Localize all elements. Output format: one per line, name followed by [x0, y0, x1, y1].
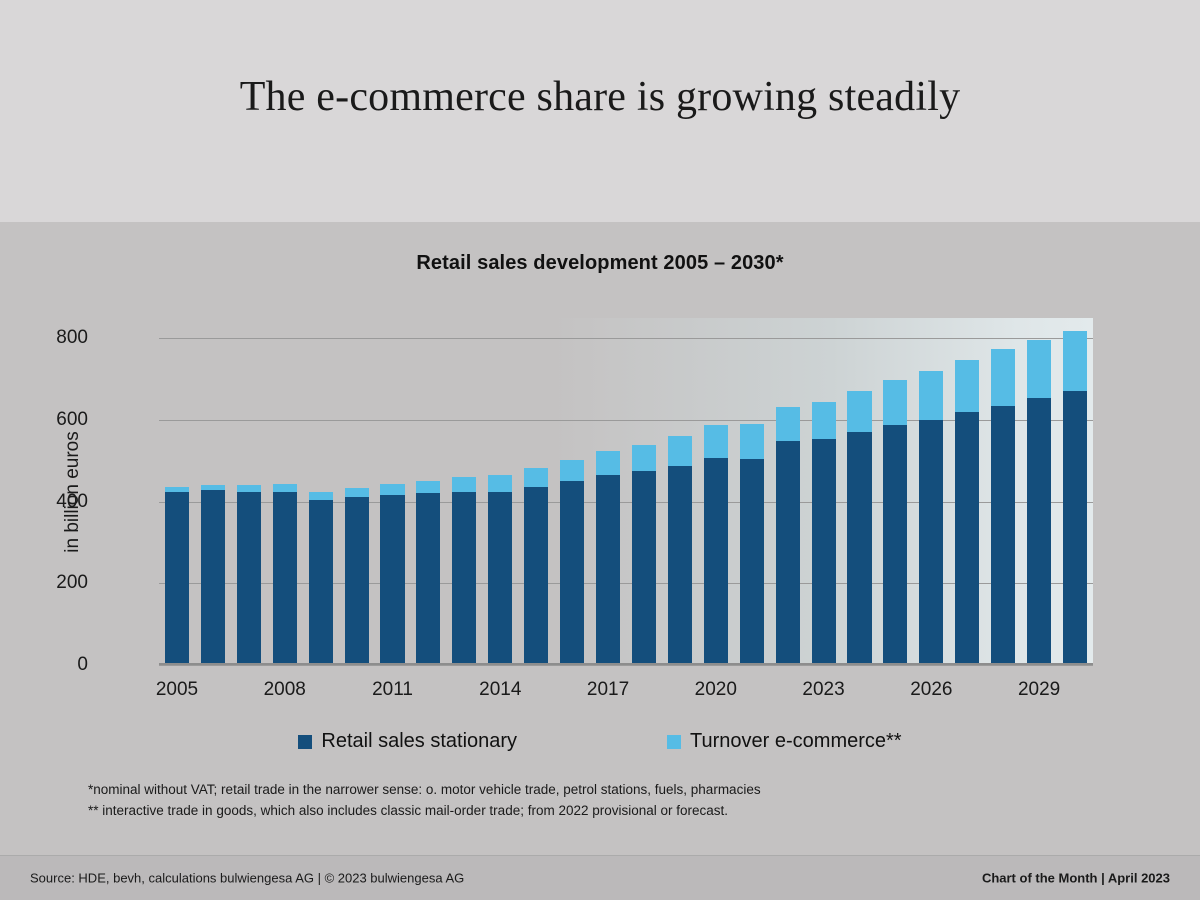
bar-segment-ecommerce-2025 [883, 380, 907, 425]
bar-2007[interactable] [237, 485, 261, 665]
bar-segment-ecommerce-2010 [345, 488, 369, 497]
x-tick-label-2023: 2023 [802, 679, 844, 701]
bar-segment-stationary-2009 [309, 500, 333, 665]
bar-2015[interactable] [524, 468, 548, 665]
bar-2019[interactable] [668, 436, 692, 665]
bar-segment-stationary-2008 [273, 492, 297, 666]
footer-source-text: Source: HDE, bevh, calculations bulwieng… [30, 871, 464, 886]
bar-2029[interactable] [1027, 340, 1051, 665]
bar-segment-ecommerce-2024 [847, 391, 871, 432]
bar-segment-ecommerce-2026 [919, 371, 943, 420]
bar-2011[interactable] [380, 484, 404, 665]
bar-segment-stationary-2013 [452, 492, 476, 665]
x-tick-label-2029: 2029 [1018, 679, 1060, 701]
bar-2026[interactable] [919, 371, 943, 665]
bar-segment-ecommerce-2022 [776, 407, 800, 441]
bar-segment-ecommerce-2030 [1063, 331, 1087, 391]
gridline-0 [159, 665, 1093, 666]
gridline-400 [159, 502, 1093, 503]
bar-segment-stationary-2022 [776, 441, 800, 665]
bar-segment-stationary-2019 [668, 466, 692, 665]
bar-segment-stationary-2005 [165, 492, 189, 666]
x-axis-tick-labels: 200520082011201420172020202320262029 [159, 671, 1093, 701]
bar-segment-ecommerce-2013 [452, 477, 476, 492]
y-tick-label-600: 600 [18, 409, 88, 431]
legend-item-ecommerce[interactable]: Turnover e-commerce** [667, 730, 902, 753]
y-axis-title: in billion euros [62, 431, 84, 552]
bar-segment-ecommerce-2027 [955, 360, 979, 412]
bar-segment-ecommerce-2012 [416, 481, 440, 493]
slide-title: The e-commerce share is growing steadily [240, 73, 961, 149]
gridline-800 [159, 338, 1093, 339]
bar-2013[interactable] [452, 477, 476, 665]
bar-segment-ecommerce-2016 [560, 460, 584, 481]
bar-2012[interactable] [416, 480, 440, 665]
bar-segment-stationary-2010 [345, 497, 369, 665]
bar-segment-stationary-2011 [380, 495, 404, 665]
bar-segment-ecommerce-2017 [596, 451, 620, 475]
chart-legend: Retail sales stationaryTurnover e-commer… [0, 730, 1200, 753]
bar-segment-stationary-2006 [201, 490, 225, 665]
footer-brand-text: Chart of the Month | April 2023 [982, 871, 1170, 886]
bar-2017[interactable] [596, 451, 620, 665]
bar-2021[interactable] [740, 424, 764, 665]
x-tick-label-2017: 2017 [587, 679, 629, 701]
x-tick-label-2008: 2008 [264, 679, 306, 701]
x-tick-label-2011: 2011 [372, 679, 413, 701]
bar-segment-stationary-2014 [488, 492, 512, 666]
bar-segment-stationary-2028 [991, 406, 1015, 665]
y-tick-label-200: 200 [18, 572, 88, 594]
bar-2027[interactable] [955, 360, 979, 665]
bar-2018[interactable] [632, 445, 656, 665]
bar-segment-ecommerce-2028 [991, 349, 1015, 406]
bar-2009[interactable] [309, 492, 333, 666]
bar-segment-stationary-2024 [847, 432, 871, 665]
bar-2023[interactable] [812, 402, 836, 665]
x-tick-label-2014: 2014 [479, 679, 521, 701]
bar-segment-ecommerce-2009 [309, 492, 333, 500]
legend-swatch-ecommerce [667, 735, 681, 749]
bar-2025[interactable] [883, 380, 907, 665]
y-tick-label-800: 800 [18, 327, 88, 349]
bar-segment-stationary-2017 [596, 475, 620, 665]
bar-segment-stationary-2012 [416, 493, 440, 665]
bar-segment-stationary-2020 [704, 458, 728, 665]
bar-segment-stationary-2016 [560, 481, 584, 665]
footnote-1: *nominal without VAT; retail trade in th… [88, 780, 1138, 801]
legend-item-stationary[interactable]: Retail sales stationary [298, 730, 517, 753]
bar-segment-stationary-2018 [632, 471, 656, 665]
y-tick-label-0: 0 [18, 654, 88, 676]
bar-2006[interactable] [201, 485, 225, 665]
chart-title: Retail sales development 2005 – 2030* [0, 252, 1200, 275]
bar-segment-ecommerce-2029 [1027, 340, 1051, 398]
title-band: The e-commerce share is growing steadily [0, 0, 1200, 222]
bar-segment-ecommerce-2021 [740, 424, 764, 460]
footer-band: Source: HDE, bevh, calculations bulwieng… [0, 855, 1200, 900]
bar-segment-ecommerce-2008 [273, 484, 297, 491]
x-axis-line [159, 663, 1093, 665]
bar-2022[interactable] [776, 407, 800, 665]
bar-2005[interactable] [165, 487, 189, 665]
bar-segment-ecommerce-2015 [524, 468, 548, 487]
bar-2014[interactable] [488, 475, 512, 665]
legend-label-stationary: Retail sales stationary [321, 730, 517, 753]
bar-segment-stationary-2021 [740, 459, 764, 665]
x-tick-label-2005: 2005 [156, 679, 198, 701]
bar-segment-stationary-2015 [524, 487, 548, 665]
bar-segment-stationary-2030 [1063, 391, 1087, 665]
bar-2024[interactable] [847, 391, 871, 665]
bar-segment-stationary-2025 [883, 425, 907, 665]
x-tick-label-2020: 2020 [695, 679, 737, 701]
bar-segment-stationary-2027 [955, 412, 979, 665]
plot-background [159, 318, 1093, 665]
bar-2010[interactable] [345, 488, 369, 665]
bar-2028[interactable] [991, 349, 1015, 665]
footnotes: *nominal without VAT; retail trade in th… [88, 780, 1138, 822]
bar-segment-ecommerce-2014 [488, 475, 512, 492]
bar-segment-ecommerce-2023 [812, 402, 836, 439]
bar-2008[interactable] [273, 484, 297, 665]
bar-2020[interactable] [704, 425, 728, 665]
legend-swatch-stationary [298, 735, 312, 749]
bar-segment-ecommerce-2019 [668, 436, 692, 465]
bar-segment-stationary-2007 [237, 492, 261, 665]
footnote-2: ** interactive trade in goods, which als… [88, 801, 1138, 822]
bar-segment-stationary-2023 [812, 439, 836, 665]
bar-segment-ecommerce-2018 [632, 445, 656, 471]
bar-segment-ecommerce-2020 [704, 425, 728, 459]
legend-label-ecommerce: Turnover e-commerce** [690, 730, 902, 753]
gridline-600 [159, 420, 1093, 421]
chart-body: Retail sales development 2005 – 2030* 02… [0, 222, 1200, 855]
bar-segment-stationary-2026 [919, 420, 943, 665]
gridline-200 [159, 583, 1093, 584]
plot-area: in billion euros [159, 318, 1093, 665]
bar-segment-stationary-2029 [1027, 398, 1051, 665]
bar-2016[interactable] [560, 460, 584, 665]
bar-2030[interactable] [1063, 331, 1087, 665]
bar-segment-ecommerce-2011 [380, 484, 404, 495]
x-tick-label-2026: 2026 [910, 679, 952, 701]
